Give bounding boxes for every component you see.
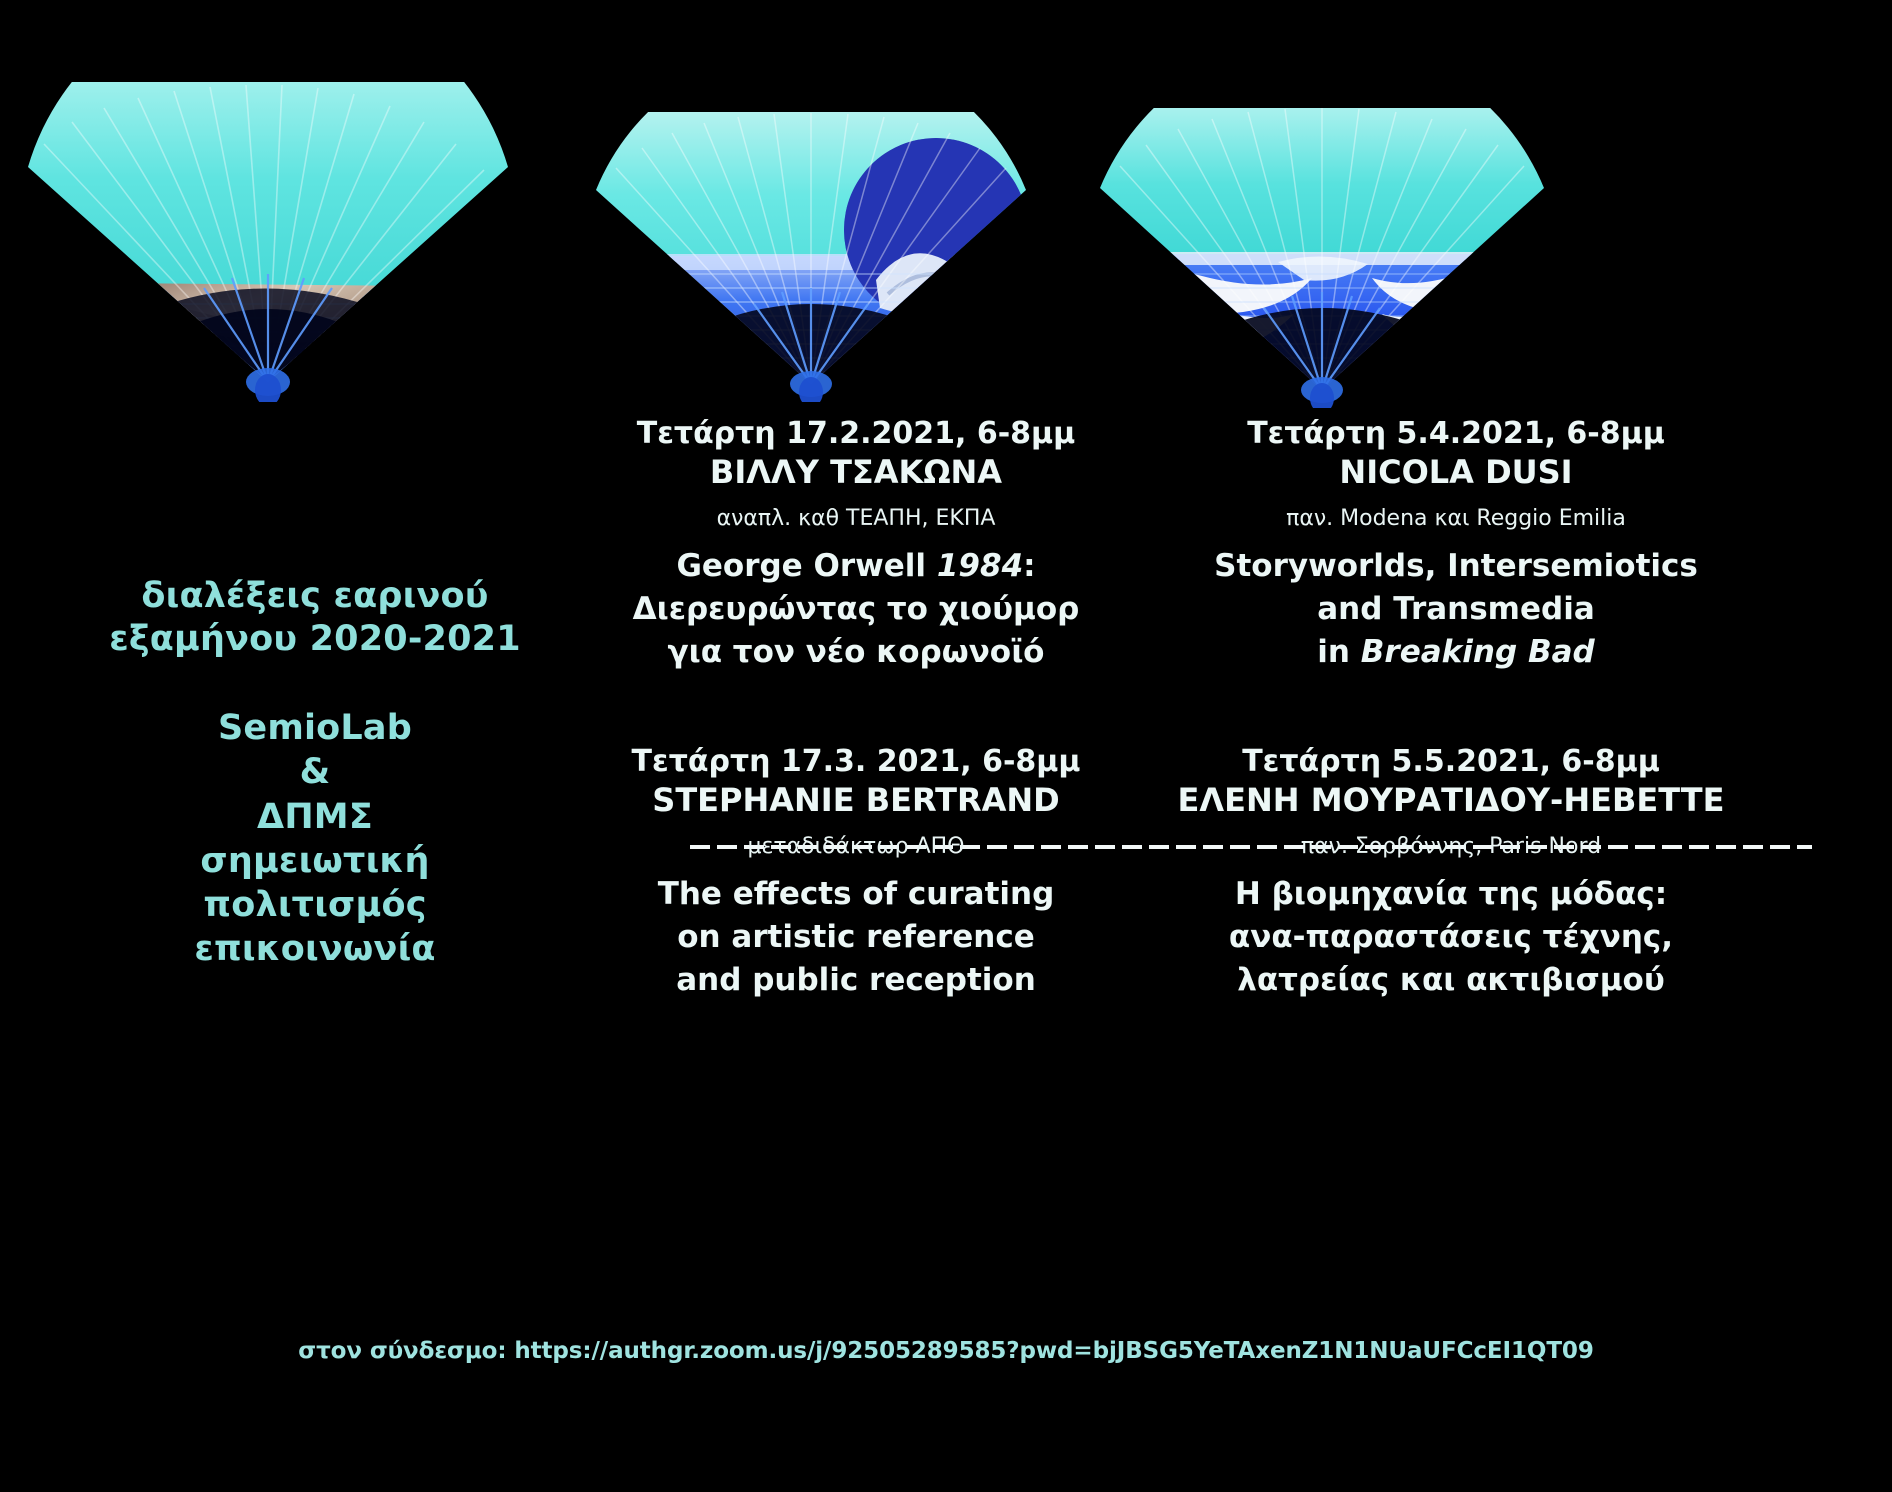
- organizer-keyword-semiotics: σημειωτική: [30, 839, 600, 883]
- talk-2-title-line-3: in Breaking Bad: [1176, 631, 1736, 674]
- talk-2-title-line-2: and Transmedia: [1176, 588, 1736, 631]
- talk-4-date: Τετάρτη 5.5.2021, 6-8μμ: [1166, 744, 1736, 780]
- series-title-line-2: εξαμήνου 2020-2021: [30, 618, 600, 661]
- organizer-semiolab: SemioLab: [30, 706, 600, 750]
- talk-3-affiliation: μεταδιδάκτωρ ΑΠΘ: [596, 834, 1116, 860]
- talk-1-speaker: ΒΙΛΛΥ ΤΣΑΚΩΝΑ: [596, 452, 1116, 492]
- talk-4-affiliation: παν. Σορβόννης, Paris Nord: [1166, 834, 1736, 860]
- brand-spacer: [30, 660, 600, 706]
- talk-card-4: Τετάρτη 5.5.2021, 6-8μμ ΕΛΕΝΗ ΜΟΥΡΑΤΙΔΟΥ…: [1166, 744, 1736, 1002]
- talk-1-title-line-1: George Orwell 1984:: [596, 545, 1116, 588]
- organizer-keyword-culture: πολιτισμός: [30, 883, 600, 927]
- talk-4-title: Η βιομηχανία της μόδας: ανα-παραστάσεις …: [1166, 873, 1736, 1001]
- brand-block: διαλέξεις εαρινού εξαμήνου 2020-2021 Sem…: [30, 575, 600, 971]
- fan-rocks-image: [18, 82, 518, 402]
- organizers: SemioLab & ΔΠΜΣ σημειωτική πολιτισμός επ…: [30, 706, 600, 971]
- series-title: διαλέξεις εαρινού εξαμήνου 2020-2021: [30, 575, 600, 660]
- talk-3-date: Τετάρτη 17.3. 2021, 6-8μμ: [596, 744, 1116, 780]
- talk-1-title-italic: 1984: [937, 548, 1023, 584]
- talk-2-speaker: NICOLA DUSI: [1176, 452, 1736, 492]
- talk-1-title-line-3: για τον νέο κορωνοϊό: [596, 631, 1116, 674]
- talk-card-1: Τετάρτη 17.2.2021, 6-8μμ ΒΙΛΛΥ ΤΣΑΚΩΝΑ α…: [596, 416, 1116, 674]
- organizer-dpms: ΔΠΜΣ: [30, 795, 600, 839]
- talk-3-title: The effects of curating on artistic refe…: [596, 873, 1116, 1001]
- talk-1-title: George Orwell 1984: Διερευρώντας το χιού…: [596, 545, 1116, 673]
- talk-card-2: Τετάρτη 5.4.2021, 6-8μμ NICOLA DUSI παν.…: [1176, 416, 1736, 674]
- talk-4-title-line-1: Η βιομηχανία της μόδας:: [1166, 873, 1736, 916]
- fan-waves-image: [1082, 108, 1562, 408]
- talk-card-3: Τετάρτη 17.3. 2021, 6-8μμ STEPHANIE BERT…: [596, 744, 1116, 1002]
- talk-1-title-pre: George Orwell: [676, 548, 936, 584]
- zoom-link[interactable]: στον σύνδεσμο: https://authgr.zoom.us/j/…: [0, 1338, 1892, 1364]
- talk-2-date: Τετάρτη 5.4.2021, 6-8μμ: [1176, 416, 1736, 452]
- talk-4-speaker: ΕΛΕΝΗ ΜΟΥΡΑΤΙΔΟΥ-HEBETTE: [1166, 780, 1736, 820]
- talk-4-title-line-2: ανα-παραστάσεις τέχνης,: [1166, 916, 1736, 959]
- organizer-keyword-communication: επικοινωνία: [30, 927, 600, 971]
- talk-2-title: Storyworlds, Intersemiotics and Transmed…: [1176, 545, 1736, 673]
- talk-4-title-line-3: λατρείας και ακτιβισμού: [1166, 959, 1736, 1002]
- talk-3-title-line-2: on artistic reference: [596, 916, 1116, 959]
- talk-2-title-line-3-italic: Breaking Bad: [1361, 634, 1595, 670]
- talk-3-speaker: STEPHANIE BERTRAND: [596, 780, 1116, 820]
- talk-2-title-line-3-pre: in: [1317, 634, 1361, 670]
- talk-1-affiliation: αναπλ. καθ ΤΕΑΠΗ, ΕΚΠΑ: [596, 506, 1116, 532]
- talk-1-title-post: :: [1023, 548, 1035, 584]
- talk-1-title-line-2: Διερευρώντας το χιούμορ: [596, 588, 1116, 631]
- talk-3-title-line-3: and public reception: [596, 959, 1116, 1002]
- fan-illustration-row: [0, 0, 1892, 470]
- fan-moon-image: [576, 112, 1046, 402]
- talk-2-affiliation: παν. Modena και Reggio Emilia: [1176, 506, 1736, 532]
- talk-3-title-line-1: The effects of curating: [596, 873, 1116, 916]
- poster-canvas: διαλέξεις εαρινού εξαμήνου 2020-2021 Sem…: [0, 0, 1892, 1492]
- talk-1-date: Τετάρτη 17.2.2021, 6-8μμ: [596, 416, 1116, 452]
- talk-2-title-line-1: Storyworlds, Intersemiotics: [1176, 545, 1736, 588]
- organizer-ampersand: &: [30, 750, 600, 794]
- series-title-line-1: διαλέξεις εαρινού: [30, 575, 600, 618]
